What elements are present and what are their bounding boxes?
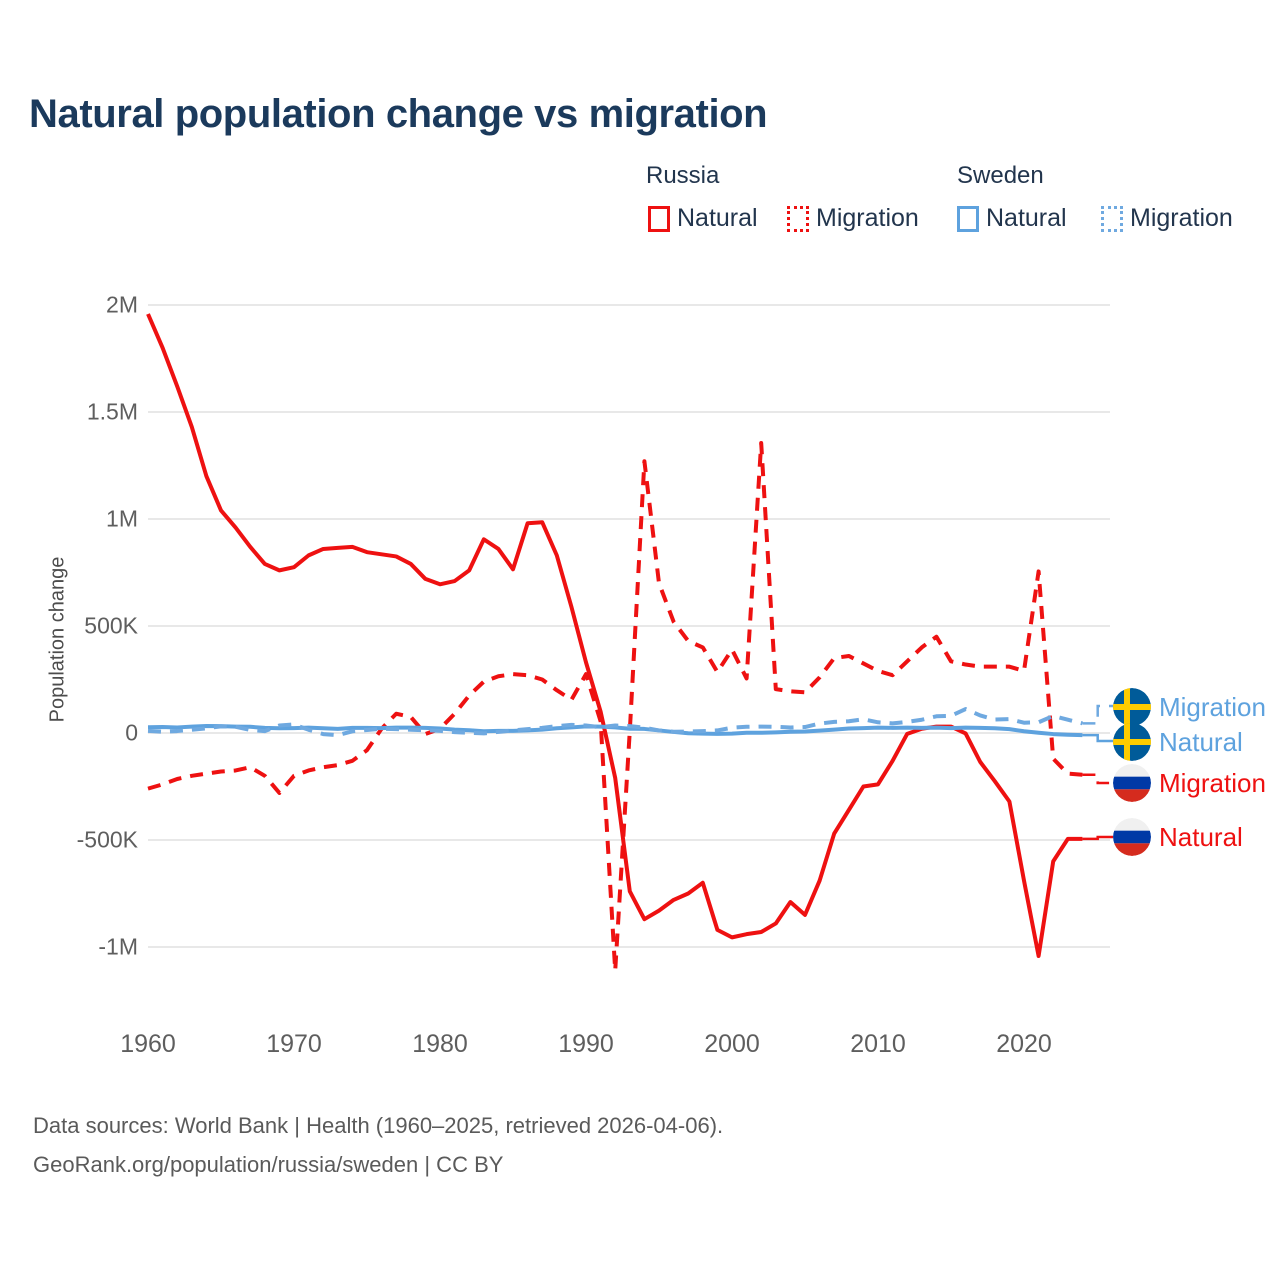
x-tick-label: 2020	[996, 1030, 1052, 1059]
leader-line-sweden-natural	[1082, 735, 1113, 741]
series-line-russia-natural[interactable]	[148, 314, 1082, 956]
y-tick-label: 1M	[106, 506, 138, 533]
x-tick-label: 1990	[558, 1030, 614, 1059]
y-tick-label: 1.5M	[87, 399, 138, 426]
chart-svg	[0, 0, 1280, 1280]
y-tick-label: 2M	[106, 292, 138, 319]
sweden-flag-icon	[1113, 688, 1151, 726]
end-label-text: Natural	[1159, 727, 1243, 758]
footer-attribution: GeoRank.org/population/russia/sweden | C…	[33, 1145, 723, 1184]
chart-plot-area: Population change -1M-500K0500K1M1.5M2M …	[0, 0, 1280, 1280]
series-line-russia-migration[interactable]	[148, 443, 1082, 971]
series-line-sweden-migration[interactable]	[148, 709, 1082, 735]
y-axis-title: Population change	[47, 530, 70, 750]
chart-page: Natural population change vs migration R…	[0, 0, 1280, 1280]
russia-flag-icon	[1113, 764, 1151, 802]
footer: Data sources: World Bank | Health (1960–…	[33, 1106, 723, 1184]
y-tick-label: -1M	[98, 934, 138, 961]
end-label-text: Natural	[1159, 822, 1243, 853]
sweden-flag-icon	[1113, 723, 1151, 761]
end-label-russia-natural[interactable]: Natural	[1113, 818, 1243, 856]
x-tick-label: 2000	[704, 1030, 760, 1059]
x-tick-label: 1980	[412, 1030, 468, 1059]
end-label-text: Migration	[1159, 768, 1266, 799]
y-tick-label: 500K	[84, 613, 138, 640]
x-tick-label: 2010	[850, 1030, 906, 1059]
end-label-russia-migration[interactable]: Migration	[1113, 764, 1266, 802]
leader-line-russia-migration	[1082, 775, 1113, 783]
x-tick-label: 1960	[120, 1030, 176, 1059]
end-label-sweden-migration[interactable]: Migration	[1113, 688, 1266, 726]
y-tick-label: 0	[125, 720, 138, 747]
y-tick-label: -500K	[77, 827, 138, 854]
end-label-sweden-natural[interactable]: Natural	[1113, 723, 1243, 761]
x-tick-label: 1970	[266, 1030, 322, 1059]
end-label-text: Migration	[1159, 692, 1266, 723]
leader-line-russia-natural	[1082, 837, 1113, 839]
russia-flag-icon	[1113, 818, 1151, 856]
leader-line-sweden-migration	[1082, 706, 1113, 723]
footer-data-sources: Data sources: World Bank | Health (1960–…	[33, 1106, 723, 1145]
